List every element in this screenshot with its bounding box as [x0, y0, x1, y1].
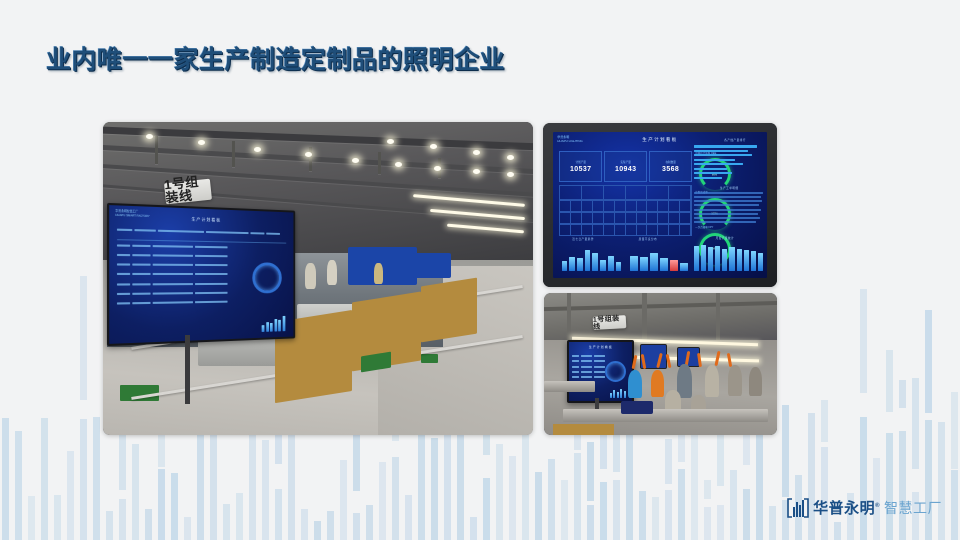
- dashboard-brand-logo: 华普永明 HUAPU LIGHTING: [557, 136, 583, 144]
- board-title: 生产计划看板: [589, 345, 613, 349]
- equalizer-bar: [665, 490, 672, 540]
- production-board-screen: 华普永明智慧工厂 HUAPU SMART FACTORY 生产计划看板: [109, 205, 293, 344]
- equalizer-bar: [392, 457, 399, 540]
- equalizer-bar: [678, 469, 685, 540]
- equalizer-bar: [587, 442, 594, 501]
- equalizer-bar: [379, 462, 386, 540]
- equalizer-bar: [457, 417, 464, 540]
- factory-assembly-line-wide-photo: 1号组装线 Assembly Line 华普永明智慧工厂 HUAPU SMART…: [103, 122, 533, 435]
- kpi-label: 实际产量: [621, 160, 631, 164]
- worker-figure: [749, 367, 762, 396]
- equalizer-bar: [938, 422, 945, 540]
- equalizer-bar: [782, 405, 789, 497]
- equalizer-bar: [106, 511, 113, 540]
- completion-donut-chart: [605, 361, 626, 382]
- equalizer-bar: [93, 417, 100, 540]
- equalizer-bar: [444, 425, 451, 540]
- equalizer-bar: [951, 392, 958, 469]
- gauge-label: 一次合格率 FPY: [695, 225, 713, 229]
- equalizer-bar: [860, 289, 867, 393]
- slide-canvas: 业内唯一一家生产制造定制品的照明企业: [0, 0, 960, 540]
- equalizer-bar: [132, 444, 139, 540]
- equalizer-bar: [821, 400, 828, 442]
- worker-figure: [305, 263, 316, 289]
- equalizer-bar: [600, 482, 607, 540]
- equalizer-bar: [288, 418, 295, 540]
- equalizer-bar: [418, 433, 425, 540]
- equalizer-bar: [15, 431, 22, 540]
- equalizer-bar: [704, 507, 711, 540]
- equalizer-bar: [587, 505, 594, 540]
- kpi-card: 实际产量 10943: [604, 151, 647, 182]
- display-bezel: 华普永明 HUAPU LIGHTING 生产计划看板 计划产量 10537 实际…: [543, 123, 777, 287]
- equalizer-bar: [470, 517, 477, 540]
- sign-label-cn: 1号组装线: [593, 314, 627, 330]
- worker-figure: [705, 365, 719, 397]
- equalizer-bar: [80, 276, 87, 400]
- equalizer-bar: [769, 506, 776, 540]
- seven-day-output-chart: [562, 246, 622, 271]
- kpi-label: 计划产量: [576, 160, 586, 164]
- huapu-bracket-bars-logo: [787, 498, 809, 518]
- equalizer-bar: [834, 522, 841, 540]
- equalizer-bar: [626, 426, 633, 540]
- production-dashboard-display-photo: 华普永明 HUAPU LIGHTING 生产计划看板 计划产量 10537 实际…: [543, 123, 777, 287]
- equalizer-bar: [925, 420, 932, 540]
- equalizer-bar: [704, 480, 711, 499]
- equalizer-bar: [886, 433, 893, 540]
- panel-title: 质量不良分布: [639, 237, 658, 241]
- board-table-header: [117, 228, 286, 234]
- equalizer-bar: [54, 495, 61, 540]
- brand-name: 华普永明®: [813, 497, 880, 518]
- worker-figure: [327, 260, 337, 285]
- equalizer-bar: [522, 432, 529, 540]
- equalizer-bar: [366, 505, 373, 540]
- monthly-output-chart: [694, 243, 762, 271]
- equalizer-bar: [743, 489, 750, 540]
- kpi-value: 10943: [615, 166, 636, 173]
- equalizer-bar: [28, 496, 35, 540]
- equalizer-bar: [639, 491, 646, 540]
- equalizer-bar: [184, 517, 191, 540]
- panel-title: 近七日产量趋势: [572, 237, 594, 241]
- equalizer-bar: [353, 513, 360, 540]
- equalizer-bar: [431, 438, 438, 540]
- equalizer-bar: [899, 380, 906, 408]
- kpi-card: 计划产量 10537: [559, 151, 602, 182]
- panel-title: 生产工单明细: [720, 186, 739, 190]
- equalizer-bar: [483, 478, 490, 540]
- page-title: 业内唯一一家生产制造定制品的照明企业: [46, 40, 505, 76]
- equalizer-bar: [327, 511, 334, 540]
- panel-title: 各产线产量排行: [724, 138, 746, 142]
- equalizer-bar: [899, 431, 906, 540]
- equalizer-bar: [236, 493, 243, 540]
- blue-equipment: [413, 253, 452, 278]
- board-title: 生产计划看板: [191, 216, 221, 223]
- equalizer-bar: [41, 418, 48, 540]
- equalizer-bar: [340, 460, 347, 540]
- equalizer-bar: [808, 413, 815, 540]
- equalizer-bar: [262, 440, 269, 540]
- equalizer-bar: [548, 459, 555, 540]
- equalizer-bar: [496, 444, 503, 540]
- equalizer-bar: [756, 417, 763, 540]
- worker-figure: [651, 370, 664, 397]
- equalizer-bar: [730, 470, 737, 540]
- equalizer-bar: [2, 418, 9, 540]
- production-board-screen: 生产计划看板: [569, 342, 632, 402]
- kpi-card: 在制数量 3568: [649, 151, 692, 182]
- equalizer-bar: [223, 504, 230, 540]
- equalizer-bar: [821, 447, 828, 540]
- work-order-list: [694, 192, 762, 226]
- sub-brand-name: 智慧工厂: [884, 498, 942, 518]
- worker-figure: [374, 263, 383, 284]
- equalizer-bar: [691, 419, 698, 540]
- equalizer-bar: [197, 422, 204, 540]
- worker-figure: [628, 370, 642, 398]
- board-bar-chart: [610, 386, 626, 398]
- equipment-case: [621, 401, 654, 414]
- production-board-tv: 生产计划看板: [567, 340, 634, 404]
- footer-logo: 华普永明® 智慧工厂: [787, 497, 942, 518]
- equalizer-bar: [860, 417, 867, 540]
- equalizer-bar: [301, 509, 308, 540]
- board-brand-header: 华普永明智慧工厂 HUAPU SMART FACTORY: [115, 209, 149, 218]
- line-output-ranking-chart: [694, 145, 762, 181]
- equalizer-bar: [613, 480, 620, 540]
- worker-figure: [728, 365, 742, 396]
- equalizer-bar: [509, 456, 516, 540]
- equalizer-bar: [886, 350, 893, 412]
- equalizer-bar: [80, 419, 87, 540]
- equalizer-bar: [119, 499, 126, 540]
- work-bench: [544, 381, 595, 392]
- equalizer-bar: [67, 451, 74, 540]
- workers-morning-exercise-photo: 1号组装线 生产计划看板: [544, 293, 777, 435]
- tv-stand-pole: [185, 335, 190, 404]
- equalizer-bar: [171, 473, 178, 540]
- panel-title: 月度产量统计: [716, 236, 735, 240]
- kpi-label: 在制数量: [665, 160, 675, 164]
- dashboard-title: 生产计划看板: [642, 137, 677, 143]
- defect-distribution-chart: [630, 246, 688, 271]
- completion-donut-chart: [252, 261, 281, 292]
- brand-superscript: ®: [875, 503, 880, 509]
- workshop-ceiling: [544, 293, 777, 340]
- kpi-value: 10537: [570, 166, 591, 173]
- equalizer-bar: [912, 378, 919, 469]
- production-board-tv: 华普永明智慧工厂 HUAPU SMART FACTORY 生产计划看板: [107, 202, 295, 346]
- production-matrix-table: [559, 223, 692, 237]
- work-bench: [563, 409, 768, 422]
- equalizer-bar: [652, 497, 659, 540]
- board-bar-chart: [261, 313, 284, 331]
- equalizer-bar: [210, 418, 217, 540]
- equalizer-bar: [925, 310, 932, 413]
- equalizer-bar: [561, 480, 568, 540]
- equalizer-bar: [535, 472, 542, 540]
- green-bin: [421, 354, 438, 363]
- equalizer-bar: [574, 453, 581, 540]
- equalizer-bar: [275, 489, 282, 540]
- equalizer-bar: [158, 469, 165, 540]
- brand-text: 华普永明: [813, 500, 875, 517]
- equalizer-bar: [717, 505, 724, 540]
- assembly-line-sign: 1号组装线: [593, 315, 627, 330]
- sign-label-cn: 1号组装线: [164, 174, 212, 205]
- equalizer-bar: [951, 470, 958, 540]
- kpi-value: 3568: [662, 166, 679, 173]
- wood-barrier-panel: [421, 277, 477, 342]
- equalizer-bar: [145, 509, 152, 540]
- equalizer-bar: [249, 421, 256, 540]
- wood-barrier-panel: [553, 424, 614, 435]
- equalizer-bar: [314, 521, 321, 540]
- equalizer-bar: [665, 439, 672, 484]
- equalizer-bar: [405, 495, 412, 540]
- dashboard-screen: 华普永明 HUAPU LIGHTING 生产计划看板 计划产量 10537 实际…: [553, 132, 767, 278]
